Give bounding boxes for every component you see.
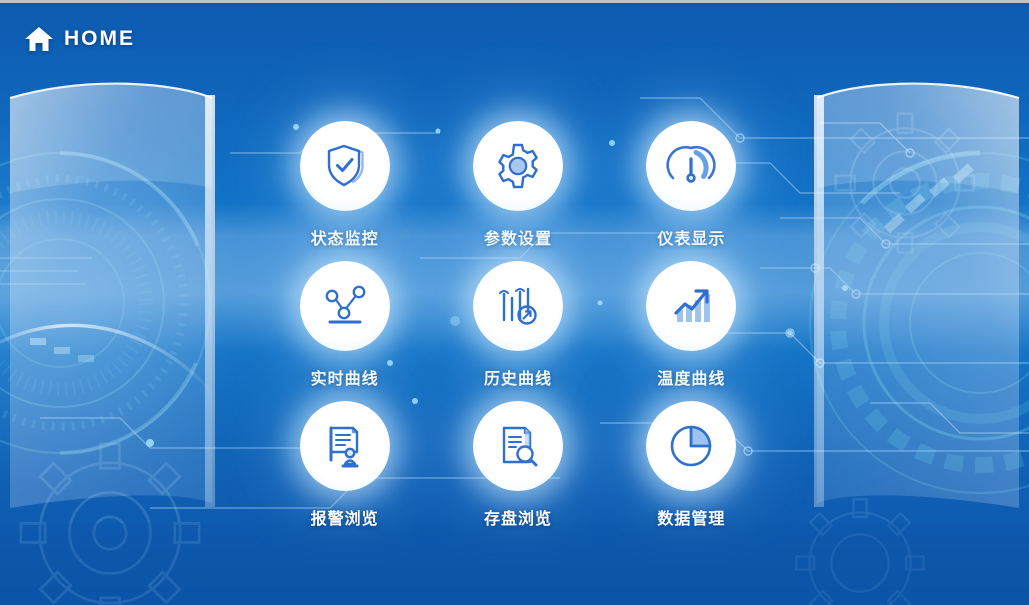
menu-item-label: 存盘浏览: [484, 505, 552, 529]
menu-item-parameter-settings[interactable]: 参数设置: [431, 121, 604, 261]
home-icon: [24, 25, 54, 53]
icon-disc: [646, 121, 736, 211]
menu-item-alarm-browse[interactable]: 报警浏览: [258, 401, 431, 541]
top-bar: [0, 3, 1029, 75]
gear-icon: [492, 140, 544, 192]
menu-item-label: 历史曲线: [484, 365, 552, 389]
trend-up-chart-icon: [665, 280, 717, 332]
menu-item-label: 报警浏览: [311, 505, 379, 529]
menu-item-temperature-curve[interactable]: 温度曲线: [605, 261, 778, 401]
icon-disc: [300, 121, 390, 211]
menu-item-label: 参数设置: [484, 225, 552, 249]
menu-item-label: 状态监控: [311, 225, 379, 249]
menu-item-instrument-display[interactable]: 仪表显示: [605, 121, 778, 261]
menu-item-archive-browse[interactable]: 存盘浏览: [431, 401, 604, 541]
scatter-line-chart-icon: [319, 280, 371, 332]
menu-item-status-monitor[interactable]: 状态监控: [258, 121, 431, 261]
icon-disc: [473, 401, 563, 491]
icon-disc: [646, 261, 736, 351]
menu-item-realtime-curve[interactable]: 实时曲线: [258, 261, 431, 401]
menu-item-label: 温度曲线: [657, 365, 725, 389]
menu-item-label: 数据管理: [657, 505, 725, 529]
bar-chart-arrow-icon: [492, 280, 544, 332]
icon-disc: [300, 261, 390, 351]
menu-item-label: 仪表显示: [657, 225, 725, 249]
icon-disc: [646, 401, 736, 491]
icon-disc: [473, 261, 563, 351]
menu-grid: 状态监控 参数设置: [258, 121, 778, 541]
home-label: HOME: [64, 27, 135, 51]
icon-disc: [473, 121, 563, 211]
menu-item-data-management[interactable]: 数据管理: [605, 401, 778, 541]
gauge-icon: [665, 140, 717, 192]
icon-disc: [300, 401, 390, 491]
shield-check-icon: [319, 140, 371, 192]
right-glass-panel: [814, 84, 1019, 508]
menu-item-label: 实时曲线: [311, 365, 379, 389]
document-search-icon: [492, 420, 544, 472]
home-screen: HOME 状态监控: [0, 0, 1029, 605]
document-stamp-icon: [319, 420, 371, 472]
left-glass-panel: [0, 84, 215, 508]
pie-chart-icon: [665, 420, 717, 472]
menu-item-history-curve[interactable]: 历史曲线: [431, 261, 604, 401]
home-button[interactable]: HOME: [24, 25, 135, 53]
